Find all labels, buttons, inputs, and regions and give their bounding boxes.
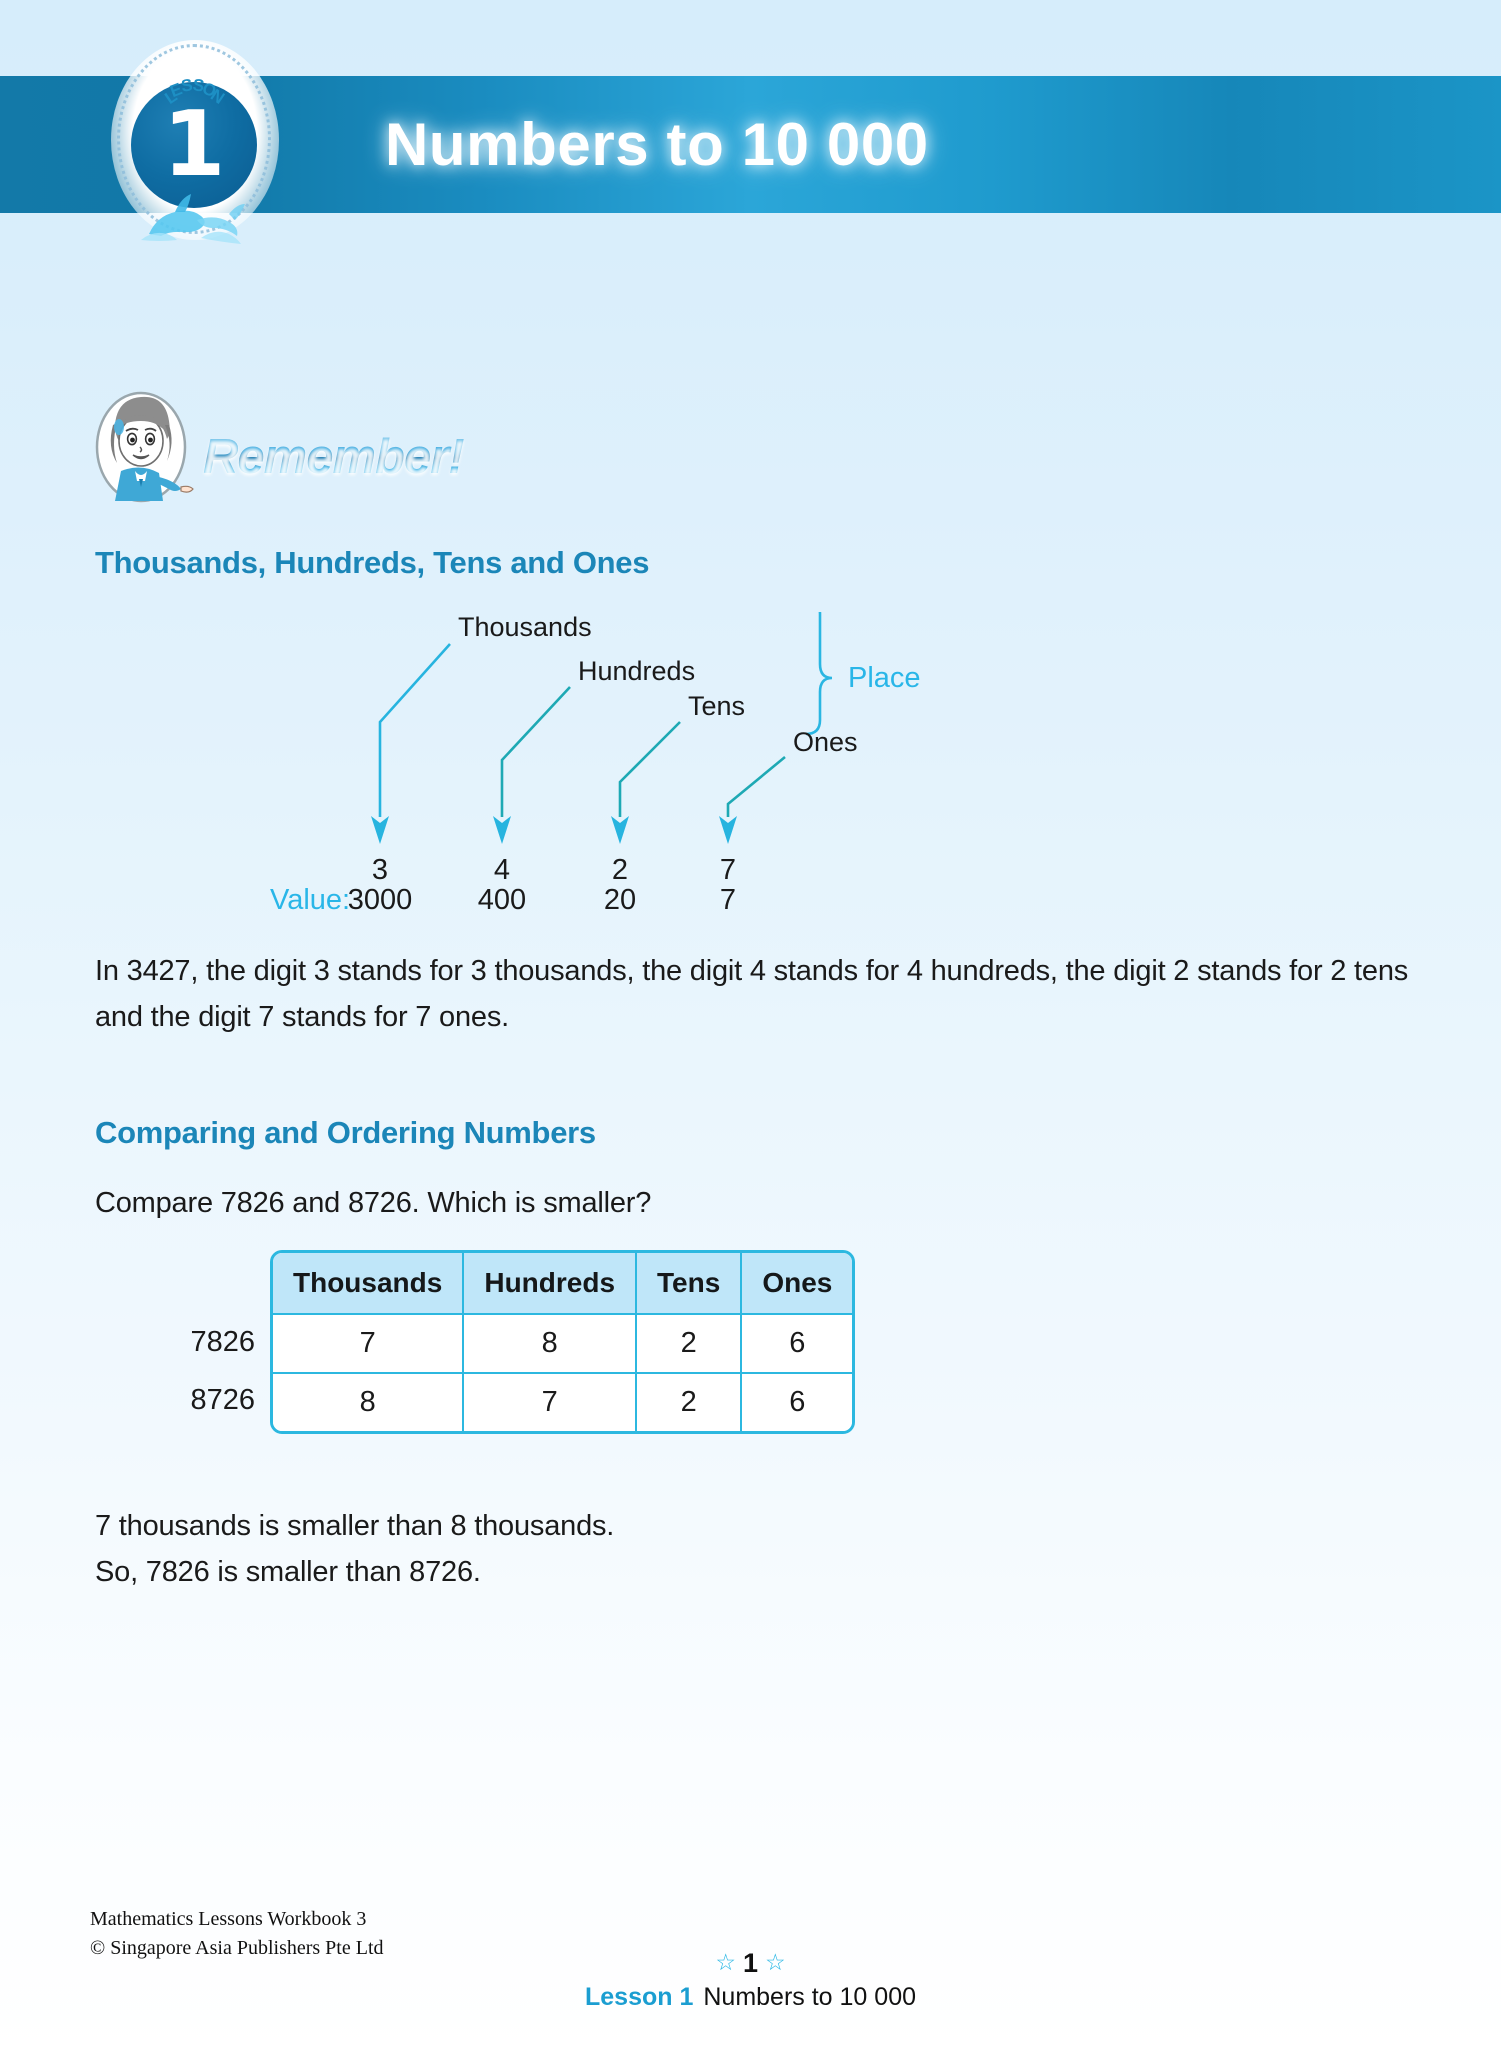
table-row-label: 8726 bbox=[140, 1384, 255, 1417]
footer-book-title: Mathematics Lessons Workbook 3 bbox=[90, 1905, 384, 1934]
footer-lesson-row: Lesson 1Numbers to 10 000 bbox=[0, 1979, 1501, 2015]
column-header-ones: Ones bbox=[742, 1253, 852, 1315]
arrow-ones bbox=[719, 757, 785, 844]
girl-character-icon bbox=[95, 385, 203, 503]
table-cell: 7 bbox=[273, 1315, 464, 1374]
digit-hundreds: 4 bbox=[472, 854, 532, 887]
value-hundreds: 400 bbox=[457, 884, 547, 917]
value-thousands: 3000 bbox=[335, 884, 425, 917]
table-cell: 7 bbox=[464, 1374, 637, 1431]
compare-question: Compare 7826 and 8726. Which is smaller? bbox=[95, 1180, 995, 1226]
place-label-ones: Ones bbox=[793, 727, 858, 758]
conclusion-paragraph: 7 thousands is smaller than 8 thousands.… bbox=[95, 1503, 1195, 1595]
footer-page-number: 1 bbox=[743, 1948, 758, 1978]
table-cell: 6 bbox=[742, 1374, 852, 1431]
table-row: 8 7 2 6 bbox=[273, 1374, 852, 1431]
table-row: 7 8 2 6 bbox=[273, 1315, 852, 1374]
footer-lesson-label: Lesson 1 bbox=[585, 1983, 693, 2011]
place-label-tens: Tens bbox=[688, 691, 745, 722]
footer-center-block: ☆1☆ Lesson 1Numbers to 10 000 bbox=[0, 1945, 1501, 2015]
table-cell: 8 bbox=[464, 1315, 637, 1374]
remember-block: Remember! bbox=[95, 385, 535, 503]
dolphin-icon bbox=[139, 184, 255, 246]
place-brace-icon bbox=[806, 612, 832, 734]
place-label-thousands: Thousands bbox=[458, 612, 592, 643]
place-value-comparison-table: Thousands Hundreds Tens Ones 7 8 2 6 8 7… bbox=[270, 1250, 855, 1434]
table-cell: 6 bbox=[742, 1315, 852, 1374]
value-ones: 7 bbox=[683, 884, 773, 917]
place-value-diagram: Thousands Hundreds Tens Ones Place 3 4 2… bbox=[240, 612, 1240, 912]
page-title: Numbers to 10 000 bbox=[385, 97, 1285, 192]
conclusion-line-2: So, 7826 is smaller than 8726. bbox=[95, 1549, 1195, 1595]
column-header-tens: Tens bbox=[637, 1253, 742, 1315]
star-icon: ☆ bbox=[715, 1949, 736, 1975]
arrow-tens bbox=[611, 722, 680, 844]
place-bracket-label: Place bbox=[848, 662, 921, 695]
digit-thousands: 3 bbox=[350, 854, 410, 887]
table-cell: 8 bbox=[273, 1374, 464, 1431]
table-row-label: 7826 bbox=[140, 1326, 255, 1359]
digit-tens: 2 bbox=[590, 854, 650, 887]
place-value-arrows bbox=[240, 612, 1240, 852]
explanation-paragraph: In 3427, the digit 3 stands for 3 thousa… bbox=[95, 948, 1425, 1040]
table-header-row: Thousands Hundreds Tens Ones bbox=[273, 1253, 852, 1315]
column-header-thousands: Thousands bbox=[273, 1253, 464, 1315]
digit-ones: 7 bbox=[698, 854, 758, 887]
remember-title: Remember! bbox=[203, 429, 464, 485]
table-cell: 2 bbox=[637, 1374, 742, 1431]
arrow-thousands bbox=[371, 644, 450, 844]
table-cell: 2 bbox=[637, 1315, 742, 1374]
arrow-hundreds bbox=[493, 687, 570, 844]
footer-page-row: ☆1☆ bbox=[0, 1945, 1501, 1979]
column-header-hundreds: Hundreds bbox=[464, 1253, 637, 1315]
place-label-hundreds: Hundreds bbox=[578, 656, 695, 687]
conclusion-line-1: 7 thousands is smaller than 8 thousands. bbox=[95, 1503, 1195, 1549]
lesson-badge: LESSON 1 bbox=[105, 34, 285, 249]
star-icon: ☆ bbox=[765, 1949, 786, 1975]
section-heading-place-value: Thousands, Hundreds, Tens and Ones bbox=[95, 545, 649, 581]
footer-lesson-title: Numbers to 10 000 bbox=[703, 1983, 916, 2011]
value-tens: 20 bbox=[575, 884, 665, 917]
section-heading-comparing: Comparing and Ordering Numbers bbox=[95, 1115, 596, 1151]
